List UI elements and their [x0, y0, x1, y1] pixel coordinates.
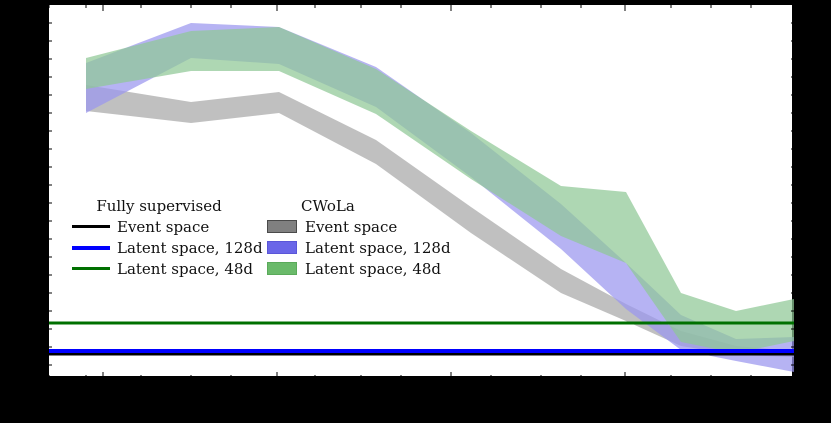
legend-line-swatch-black [72, 225, 110, 228]
legend-group-title: CWoLa [261, 196, 442, 216]
legend-item-fs-event-space[interactable]: Event space [72, 216, 242, 237]
legend-patch-swatch-blue [267, 241, 297, 254]
legend-item-label: Latent space, 48d [117, 261, 253, 277]
legend-patch-swatch-green [267, 262, 297, 275]
legend-patch-swatch-gray [267, 220, 297, 233]
legend-group-cwola: CWoLa Event space Latent space, 128d Lat… [267, 196, 442, 279]
legend-item-cwola-latent-48d[interactable]: Latent space, 48d [267, 258, 442, 279]
legend-group-fully-supervised: Fully supervised Event space Latent spac… [72, 196, 242, 279]
legend: Fully supervised Event space Latent spac… [72, 196, 432, 280]
legend-line-swatch-blue [72, 246, 110, 250]
legend-item-label: Latent space, 48d [305, 261, 441, 277]
legend-item-label: Latent space, 128d [117, 240, 263, 256]
legend-line-swatch-green [72, 267, 110, 270]
plot-area [48, 4, 793, 377]
legend-item-label: Event space [117, 219, 209, 235]
legend-item-cwola-event-space[interactable]: Event space [267, 216, 442, 237]
legend-item-fs-latent-48d[interactable]: Latent space, 48d [72, 258, 242, 279]
legend-item-label: Latent space, 128d [305, 240, 451, 256]
legend-item-fs-latent-128d[interactable]: Latent space, 128d [72, 237, 242, 258]
figure-root: Fully supervised Event space Latent spac… [0, 0, 831, 423]
chart-canvas [49, 5, 794, 378]
legend-group-title: Fully supervised [76, 196, 242, 216]
legend-item-cwola-latent-128d[interactable]: Latent space, 128d [267, 237, 442, 258]
legend-item-label: Event space [305, 219, 397, 235]
